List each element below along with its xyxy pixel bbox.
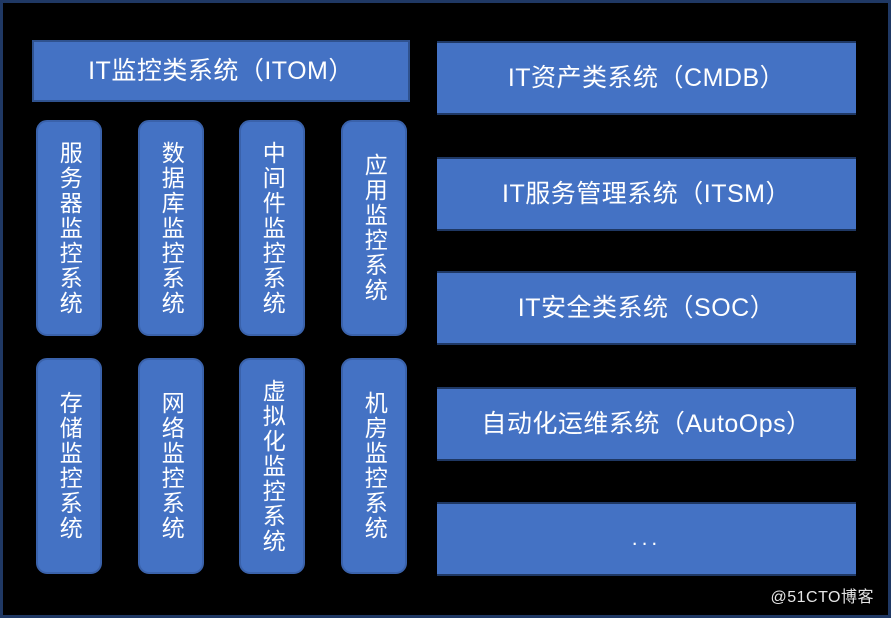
monitoring-box-server[interactable]: 服务器监控系统	[36, 120, 102, 336]
monitoring-box-middleware[interactable]: 中间件监控系统	[239, 120, 305, 336]
system-bar-soc[interactable]: IT安全类系统（SOC）	[437, 271, 856, 345]
system-bar-autoops[interactable]: 自动化运维系统（AutoOps）	[437, 387, 856, 461]
diagram-canvas: IT监控类系统（ITOM） 服务器监控系统 数据库监控系统 中间件监控系统 应用…	[0, 0, 891, 618]
system-bar-itsm[interactable]: IT服务管理系统（ITSM）	[437, 157, 856, 231]
monitoring-box-storage[interactable]: 存储监控系统	[36, 358, 102, 574]
itom-header-box[interactable]: IT监控类系统（ITOM）	[32, 40, 410, 102]
system-bar-more[interactable]: ...	[437, 502, 856, 576]
monitoring-box-network[interactable]: 网络监控系统	[138, 358, 204, 574]
system-bar-cmdb[interactable]: IT资产类系统（CMDB）	[437, 41, 856, 115]
monitoring-box-application[interactable]: 应用监控系统	[341, 120, 407, 336]
watermark: @51CTO博客	[770, 583, 874, 607]
monitoring-box-datacenter[interactable]: 机房监控系统	[341, 358, 407, 574]
monitoring-box-database[interactable]: 数据库监控系统	[138, 120, 204, 336]
monitoring-box-virtualization[interactable]: 虚拟化监控系统	[239, 358, 305, 574]
